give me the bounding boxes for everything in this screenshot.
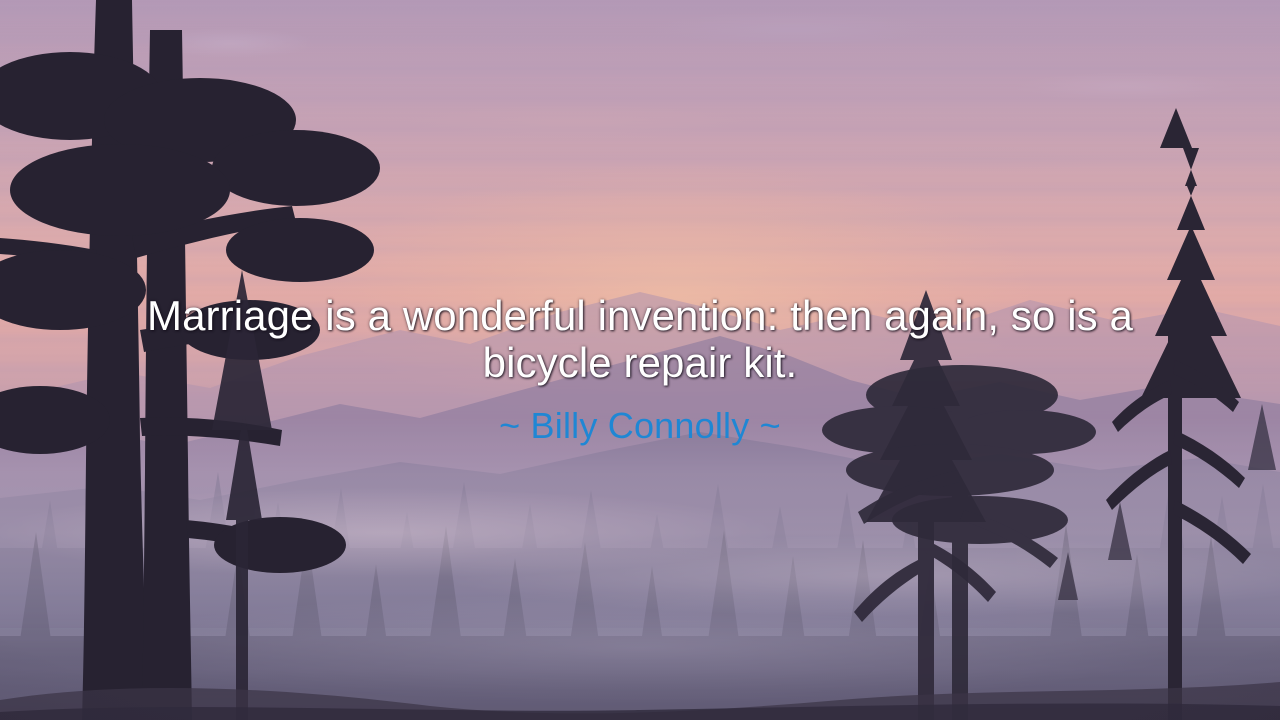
quote-image: Marriage is a wonderful invention: then … (0, 0, 1280, 720)
quote-overlay: Marriage is a wonderful invention: then … (0, 0, 1280, 720)
quote-text: Marriage is a wonderful invention: then … (95, 292, 1185, 386)
quote-author: ~ Billy Connolly ~ (499, 405, 781, 446)
